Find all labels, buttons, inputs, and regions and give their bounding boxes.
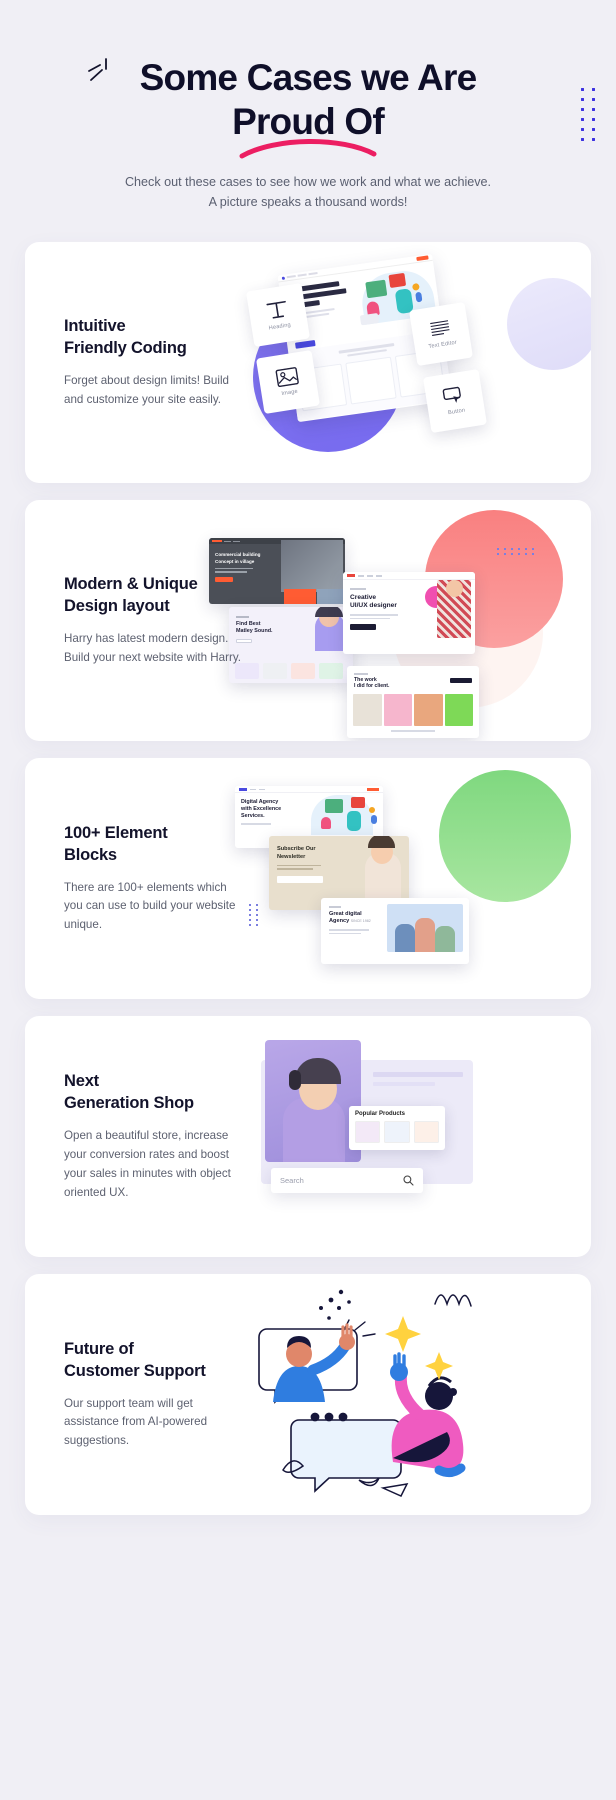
support-scene-illustration: [243, 1274, 493, 1515]
card-description: There are 100+ elements which you can us…: [64, 879, 243, 935]
page-root: Some Cases we Are Proud Of Check out the…: [0, 0, 616, 1800]
logo-dot-icon: [282, 276, 285, 279]
card-description: Forget about design limits! Build and cu…: [64, 372, 243, 410]
page-subtitle: Check out these cases to see how we work…: [0, 173, 616, 212]
card-title: Next Generation Shop: [64, 1071, 243, 1115]
green-circle-shape: [439, 770, 571, 902]
case-card-intuitive-friendly-coding[interactable]: Intuitive Friendly Coding Forget about d…: [25, 242, 591, 483]
sparkle-icon: [85, 58, 119, 94]
page-title-line-1: Some Cases we Are: [90, 56, 526, 100]
widget-card-text-editor: Text Editor: [409, 302, 473, 366]
card-illustration-shop: Popular Products Search: [243, 1016, 591, 1257]
search-bar[interactable]: Search: [271, 1168, 423, 1193]
mockup-headline-line1: The work: [354, 677, 377, 683]
dot-grid-decoration: [249, 904, 263, 929]
product-thumbnail: [414, 1121, 439, 1143]
website-mockup-client-work: The work I did for client.: [347, 666, 479, 738]
mockup-headline-line2: Agency: [329, 918, 349, 924]
card-text-block: Future of Customer Support Our support t…: [25, 1339, 243, 1451]
card-title: 100+ Element Blocks: [64, 823, 243, 867]
card-description: Harry has latest modern design. Build yo…: [64, 630, 243, 668]
case-card-list: Intuitive Friendly Coding Forget about d…: [0, 242, 616, 1515]
mockup-headline-line1: Creative: [350, 594, 376, 601]
page-subtitle-line-2: A picture speaks a thousand words!: [0, 193, 616, 213]
cursor-button-icon: [442, 386, 467, 407]
widget-label: Image: [281, 389, 298, 398]
mockup-headline-line2: Concept in village: [215, 559, 254, 564]
page-subtitle-line-1: Check out these cases to see how we work…: [0, 173, 616, 193]
widget-label: Heading: [268, 322, 291, 331]
lavender-circle-shape: [507, 278, 591, 370]
card-title: Intuitive Friendly Coding: [64, 316, 243, 360]
popular-products-label: Popular Products: [355, 1111, 439, 1117]
widget-label: Text Editor: [428, 340, 457, 350]
website-mockup-matley-sound: Find Best Matley Sound.: [229, 607, 353, 683]
panel-line: [373, 1082, 435, 1086]
card-text-block: 100+ Element Blocks There are 100+ eleme…: [25, 823, 243, 935]
card-illustration-design: Commercial building Concept in village: [243, 500, 591, 741]
product-thumbnail: [355, 1121, 380, 1143]
card-illustration-blocks: Digital Agency with Excellence Services.: [243, 758, 591, 999]
popular-products-card[interactable]: Popular Products: [349, 1106, 445, 1150]
widget-card-button: Button: [423, 369, 487, 433]
card-text-block: Modern & Unique Design layout Harry has …: [25, 574, 243, 667]
search-placeholder-text: Search: [280, 1176, 304, 1185]
title-underline-stroke: [238, 138, 378, 160]
mockup-headline-line3: Services.: [241, 813, 265, 819]
card-illustration-coding: Heading Image: [243, 242, 591, 483]
card-text-block: Next Generation Shop Open a beautiful st…: [25, 1071, 243, 1202]
website-mockup-uiux-designer: Creative UI/UX designer: [343, 572, 475, 654]
mockup-headline-line2: with Excellence: [241, 806, 281, 812]
mockup-headline-line1: Digital Agency: [241, 799, 278, 805]
panel-line: [373, 1072, 463, 1077]
card-description: Our support team will get assistance fro…: [64, 1395, 243, 1451]
website-mockup-great-digital-agency: Great digital Agency SINCE 1982: [321, 898, 469, 964]
mockup-headline-line2: UI/UX designer: [350, 602, 397, 609]
widget-card-image: Image: [256, 350, 320, 414]
image-icon: [275, 367, 300, 388]
case-card-modern-unique-design[interactable]: Modern & Unique Design layout Harry has …: [25, 500, 591, 741]
page-header: Some Cases we Are Proud Of Check out the…: [0, 0, 616, 212]
model-photo: [265, 1040, 361, 1162]
nav-line: [308, 273, 317, 276]
page-title-line-2: Proud Of: [90, 100, 526, 144]
card-text-block: Intuitive Friendly Coding Forget about d…: [25, 316, 243, 409]
text-editor-icon: [428, 319, 453, 340]
mockup-headline-line1: Commercial building: [215, 552, 260, 557]
card-illustration-support: [243, 1274, 591, 1515]
dot-grid-decoration: [581, 88, 603, 148]
magnifier-icon: [403, 1175, 414, 1186]
case-card-next-generation-shop[interactable]: Next Generation Shop Open a beautiful st…: [25, 1016, 591, 1257]
mockup-headline-line1: Subscribe Our: [277, 846, 316, 852]
mockup-tag: SINCE 1982: [351, 919, 371, 923]
widget-card-heading: Heading: [246, 283, 310, 347]
nav-line: [298, 274, 307, 277]
mockup-headline-line2: I did for client.: [354, 683, 389, 689]
product-thumbnail: [384, 1121, 409, 1143]
case-card-customer-support[interactable]: Future of Customer Support Our support t…: [25, 1274, 591, 1515]
mockup-headline-line1: Great digital: [329, 911, 362, 917]
nav-line: [287, 276, 296, 279]
case-card-element-blocks[interactable]: 100+ Element Blocks There are 100+ eleme…: [25, 758, 591, 999]
card-title: Future of Customer Support: [64, 1339, 243, 1383]
heading-icon: [265, 299, 290, 322]
card-title: Modern & Unique Design layout: [64, 574, 243, 618]
dot-grid-decoration: [497, 548, 539, 558]
mockup-headline-line2: Newsletter: [277, 854, 305, 860]
card-description: Open a beautiful store, increase your co…: [64, 1127, 243, 1202]
widget-label: Button: [448, 408, 466, 417]
